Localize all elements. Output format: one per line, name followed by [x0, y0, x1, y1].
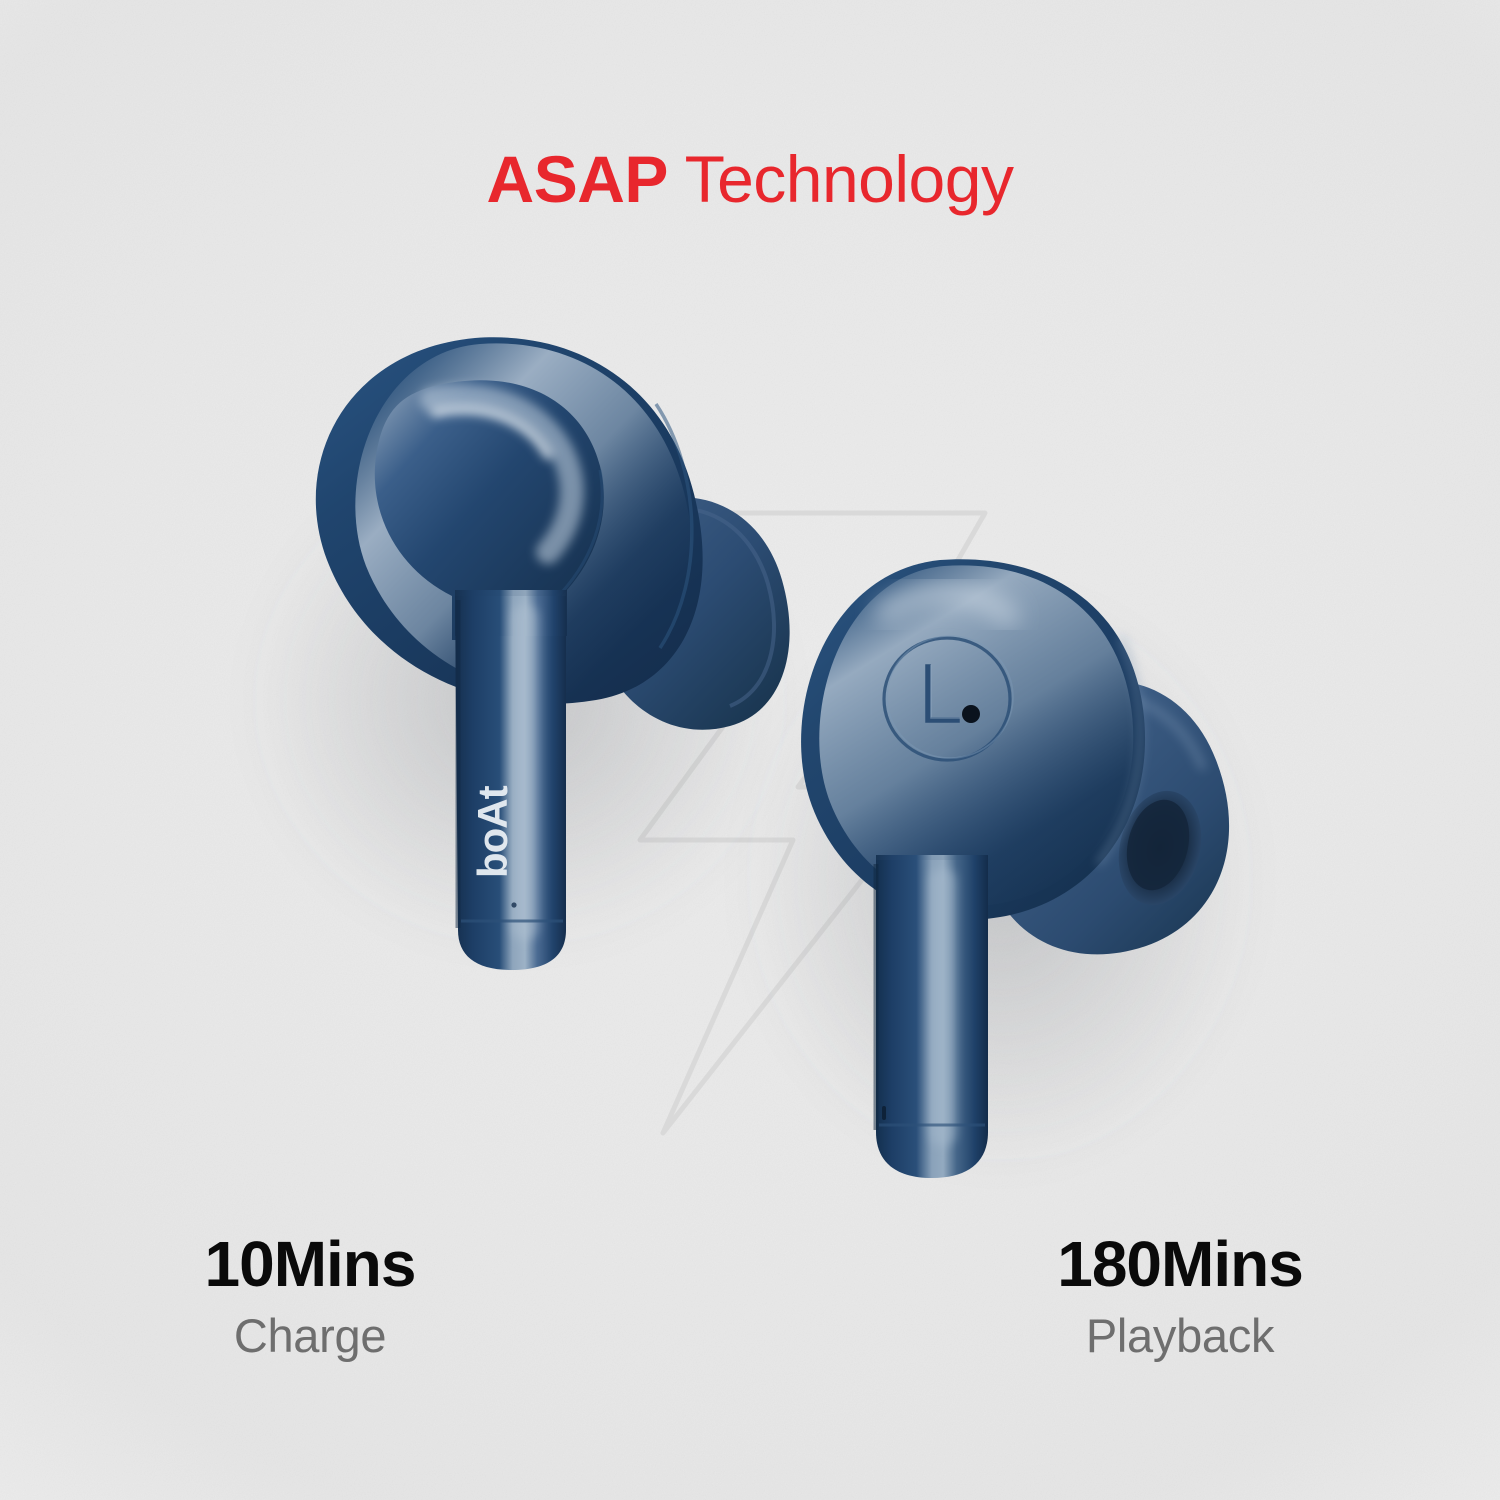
promo-image-canvas: ASAP Technology [0, 0, 1500, 1500]
right-earbud-stem [876, 855, 988, 1178]
charge-stat-label: Charge [0, 1312, 620, 1359]
right-earbud-mic-hole [962, 705, 980, 723]
left-earbud-boat-logo: boAt [469, 785, 516, 878]
playback-stat: 180Mins Playback [750, 1232, 1500, 1359]
left-earbud-stem [455, 590, 567, 970]
headline-light: Technology [685, 142, 1014, 216]
playback-stat-value: 180Mins [860, 1232, 1500, 1296]
headline-space [668, 142, 685, 216]
playback-stat-label: Playback [860, 1312, 1500, 1359]
charge-stat: 10Mins Charge [0, 1232, 750, 1359]
charge-stat-value: 10Mins [0, 1232, 620, 1296]
headline-strong: ASAP [487, 142, 668, 216]
stats-row: 10Mins Charge 180Mins Playback [0, 1232, 1500, 1359]
headline: ASAP Technology [0, 146, 1500, 212]
svg-text:boAt: boAt [469, 785, 516, 878]
